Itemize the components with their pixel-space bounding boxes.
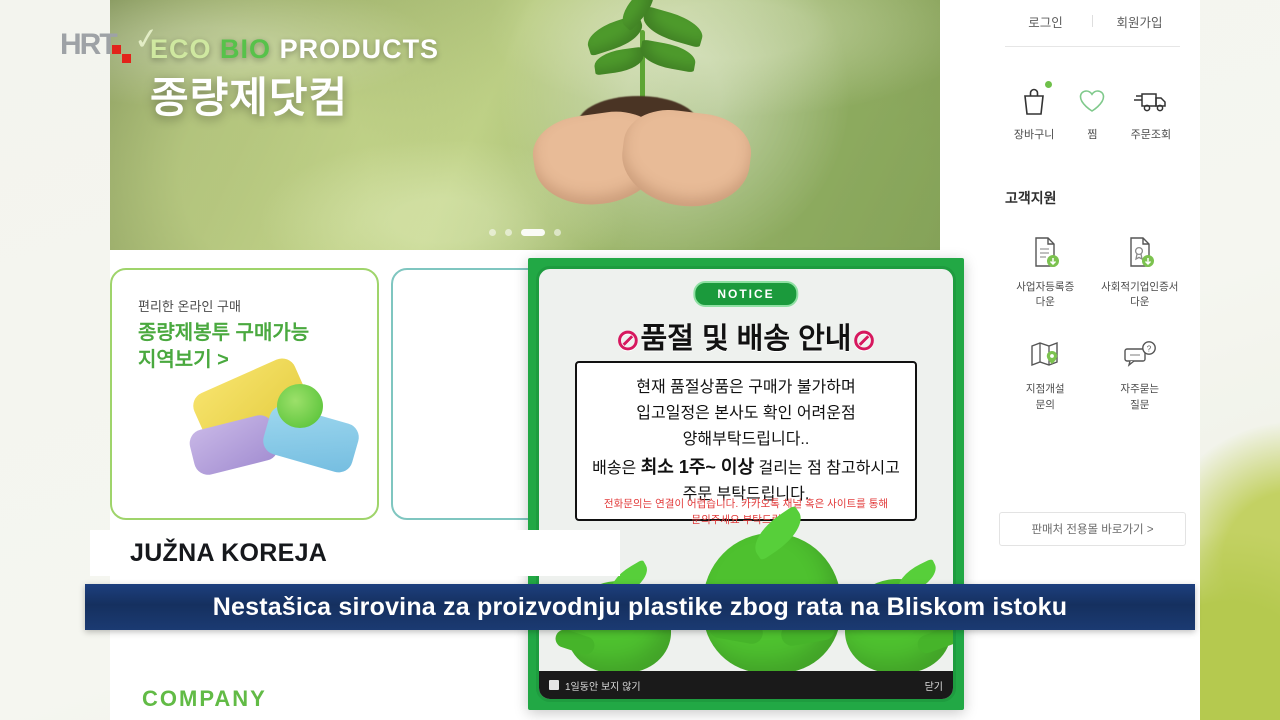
- support-label-line2: 다운: [1036, 296, 1055, 308]
- support-label-line1: 지점개설: [1026, 383, 1065, 395]
- support-label-line1: 자주묻는: [1120, 383, 1159, 395]
- shopping-bag-icon: [1005, 81, 1063, 121]
- location-text: JUŽNA KOREJA: [130, 539, 327, 568]
- hrt-logo: HRT: [60, 30, 116, 60]
- support-item-business-license[interactable]: 사업자등록증 다운: [1001, 230, 1090, 310]
- prohibited-icon-right: ⊘: [851, 324, 876, 357]
- support-section-title: 고객지원: [1005, 188, 1180, 208]
- hide-for-day-label: 1일동안 보지 않기: [565, 678, 641, 693]
- support-item-branch-inquiry[interactable]: 지점개설 문의: [1001, 332, 1090, 412]
- quick-link-wishlist[interactable]: 찜: [1063, 81, 1121, 142]
- hrt-logo-square-2: [122, 54, 131, 63]
- hero-eco: ECO: [150, 34, 212, 64]
- notice-badge: NOTICE: [693, 281, 798, 307]
- svg-text:?: ?: [1147, 345, 1152, 354]
- map-pin-icon: [1001, 332, 1090, 376]
- hero-products: PRODUCTS: [280, 34, 440, 64]
- certificate-download-icon: [1096, 230, 1185, 274]
- hero-bio: BIO: [220, 34, 271, 64]
- highlight-strong: 최소 1주~ 이상: [641, 457, 754, 477]
- notice-modal-footer: 1일동안 보지 않기 닫기: [539, 671, 953, 699]
- notice-highlight-line: 배송은 최소 1주~ 이상 걸리는 점 참고하시고: [592, 454, 900, 480]
- support-item-social-enterprise-cert[interactable]: 사회적기업인증서 다운: [1096, 230, 1185, 310]
- truck-icon: [1122, 81, 1180, 121]
- hero-banner[interactable]: ✓ ECO BIO PRODUCTS 종량제닷컴: [110, 0, 940, 250]
- carousel-dot-2[interactable]: [505, 229, 512, 236]
- card-kicker: 편리한 온라인 구매: [138, 296, 241, 315]
- chat-question-icon: ?: [1096, 332, 1185, 376]
- notice-title: ⊘품절 및 배송 안내⊘: [539, 315, 953, 358]
- carousel-dot-1[interactable]: [489, 229, 496, 236]
- company-heading: COMPANY: [142, 686, 267, 712]
- hrt-logo-letters: HRT: [60, 28, 116, 61]
- notice-body-line-2: 입고일정은 본사도 확인 어려운점: [636, 402, 855, 425]
- support-label-line2: 문의: [1036, 399, 1055, 411]
- chyron-headline: Nestašica sirovina za proizvodnju plasti…: [213, 593, 1068, 622]
- quick-links: 장바구니 찜: [999, 47, 1186, 142]
- hero-title: 종량제닷컴: [150, 77, 439, 119]
- support-item-faq[interactable]: ? 자주묻는 질문: [1096, 332, 1185, 412]
- mascot-illustration: [539, 483, 953, 673]
- notice-modal-inner: NOTICE ⊘품절 및 배송 안내⊘ 현재 품절상품은 구매가 불가하며 입고…: [536, 266, 956, 702]
- notice-body-line-3: 양해부탁드립니다..: [683, 428, 810, 451]
- auth-links: 로그인 회원가입: [999, 0, 1186, 42]
- quick-link-cart[interactable]: 장바구니: [1005, 81, 1063, 142]
- prohibited-icon-left: ⊘: [615, 324, 640, 357]
- plant-in-hands-image: [490, 0, 830, 246]
- carousel-dot-4[interactable]: [554, 229, 561, 236]
- card-bag-purchase-area[interactable]: 편리한 온라인 구매 종량제봉투 구매가능 지역보기 >: [110, 268, 379, 520]
- quick-link-order-lookup[interactable]: 주문조회: [1122, 81, 1180, 142]
- close-modal-link[interactable]: 닫기: [925, 678, 943, 693]
- quick-link-label: 주문조회: [1122, 126, 1180, 142]
- support-label-line1: 사회적기업인증서: [1101, 281, 1178, 293]
- location-banner: JUŽNA KOREJA: [90, 530, 620, 576]
- highlight-prefix: 배송은: [592, 460, 641, 477]
- checkbox-box-icon[interactable]: [549, 680, 559, 690]
- support-label-line2: 질문: [1130, 399, 1149, 411]
- carousel-dot-3-active[interactable]: [521, 229, 545, 236]
- garbage-bag-rolls-image: [173, 364, 363, 484]
- news-chyron: Nestašica sirovina za proizvodnju plasti…: [85, 584, 1195, 630]
- quick-link-label: 장바구니: [1005, 126, 1063, 142]
- cart-badge-dot: [1045, 81, 1052, 88]
- support-label-line1: 사업자등록증: [1016, 281, 1074, 293]
- notice-modal[interactable]: NOTICE ⊘품절 및 배송 안내⊘ 현재 품절상품은 구매가 불가하며 입고…: [528, 258, 964, 710]
- support-label-line2: 다운: [1130, 296, 1149, 308]
- hide-for-day-checkbox[interactable]: 1일동안 보지 않기: [549, 678, 641, 693]
- signup-link[interactable]: 회원가입: [1093, 12, 1186, 31]
- notice-body-line-1: 현재 품절상품은 구매가 불가하며: [636, 376, 855, 399]
- quick-link-label: 찜: [1063, 126, 1121, 142]
- broadcast-frame: ✓ ECO BIO PRODUCTS 종량제닷컴: [0, 0, 1280, 720]
- card-title-line1: 종량제봉투 구매가능: [138, 322, 309, 344]
- carousel-indicators[interactable]: [110, 229, 940, 236]
- support-grid: 사업자등록증 다운: [999, 208, 1186, 413]
- seller-mall-button[interactable]: 판매처 전용몰 바로가기 >: [999, 512, 1186, 546]
- hrt-logo-square-1: [112, 45, 121, 54]
- notice-title-text: 품절 및 배송 안내: [641, 323, 852, 355]
- document-download-icon: [1001, 230, 1090, 274]
- hero-subtitle: ECO BIO PRODUCTS: [150, 36, 439, 63]
- heart-icon: [1063, 81, 1121, 121]
- highlight-suffix: 걸리는 점 참고하시고: [754, 460, 900, 477]
- login-link[interactable]: 로그인: [999, 12, 1092, 31]
- hero-text-block: ECO BIO PRODUCTS 종량제닷컴: [150, 36, 439, 119]
